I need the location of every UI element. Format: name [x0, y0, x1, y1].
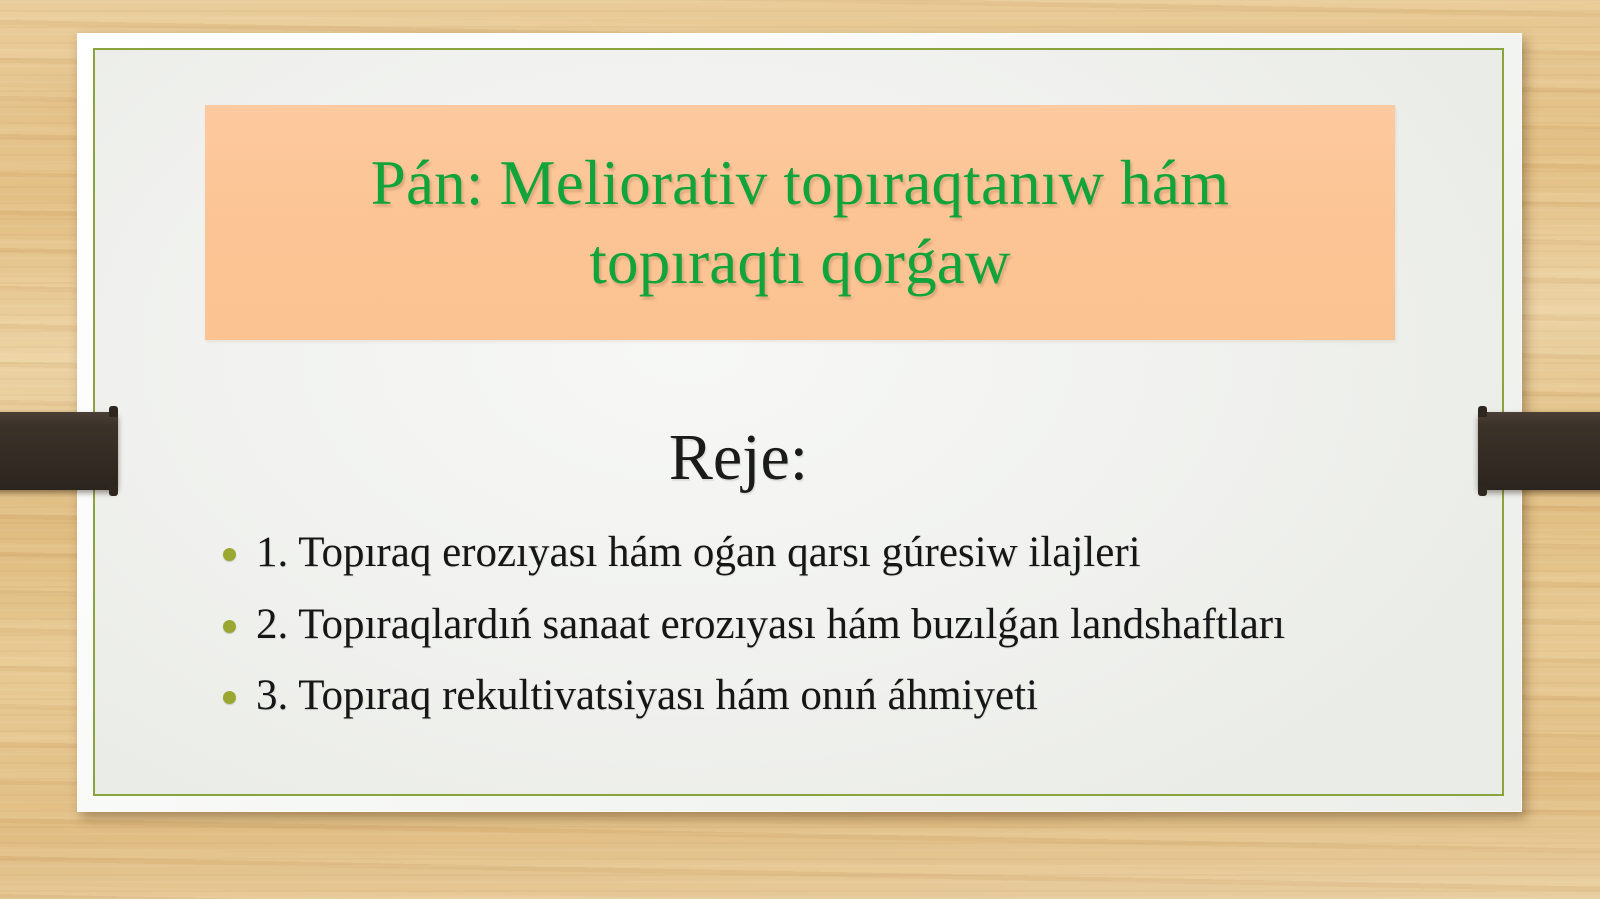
slide-inner-border	[93, 48, 1504, 796]
presentation-stage: Pán: Meliorativ topıraqtanıw hám topıraq…	[0, 0, 1600, 899]
slide-clamp-left	[0, 412, 118, 490]
slide-clamp-right	[1478, 412, 1600, 490]
slide-frame: Pán: Meliorativ topıraqtanıw hám topıraq…	[77, 33, 1522, 812]
clamp-tab-icon	[1478, 485, 1487, 496]
clamp-tab-icon	[109, 406, 118, 417]
clamp-tab-icon	[109, 485, 118, 496]
clamp-tab-icon	[1478, 406, 1487, 417]
